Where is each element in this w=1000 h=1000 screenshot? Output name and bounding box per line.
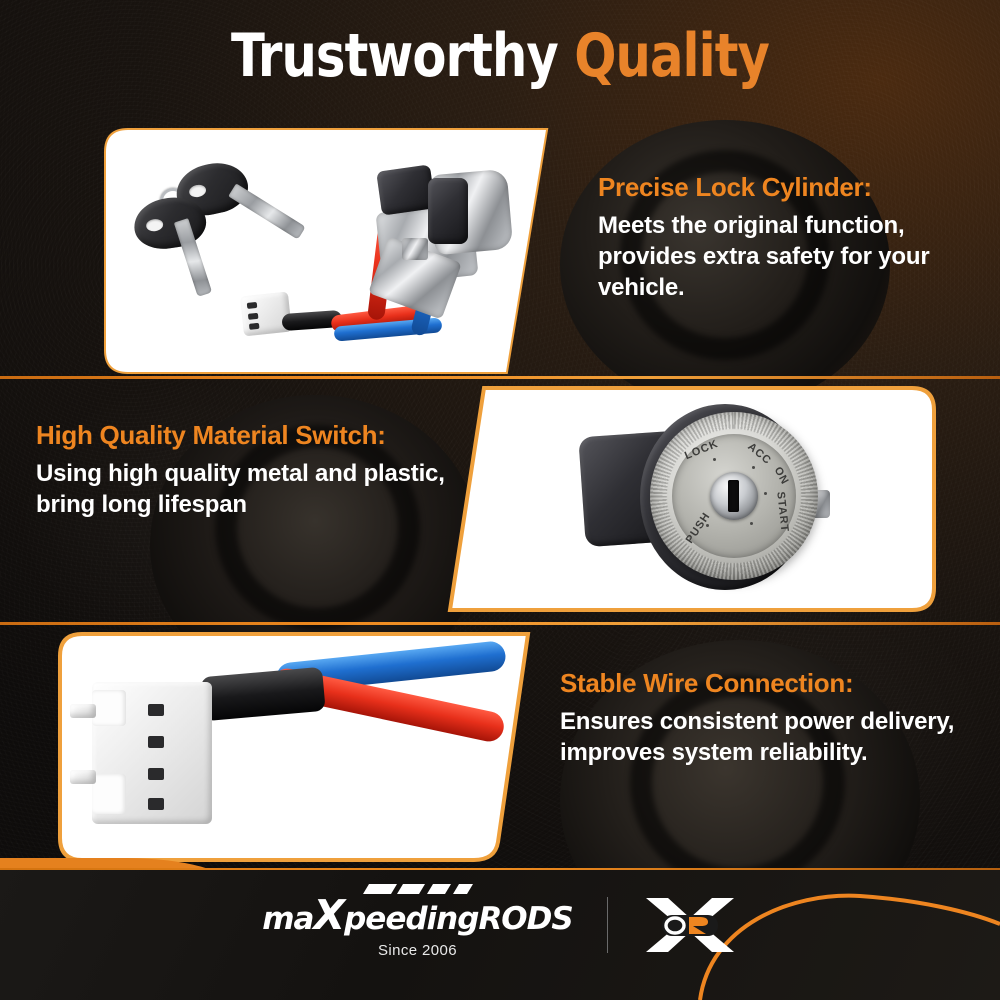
- section-3-body: Ensures consistent power delivery, impro…: [560, 706, 960, 768]
- footer-divider: [0, 868, 1000, 870]
- speed-streaks-icon: [357, 882, 477, 900]
- page-title: Trustworthy Quality: [0, 24, 1000, 88]
- section-1-copy: Precise Lock Cylinder: Meets the origina…: [598, 172, 948, 303]
- section-3-heading: Stable Wire Connection:: [560, 668, 960, 699]
- page-title-part2: Quality: [574, 21, 769, 91]
- lock-cylinder-terminal: [402, 238, 428, 260]
- footer: maXpeedingRODS Since 2006: [0, 868, 1000, 1000]
- connector-latch-lower: [70, 770, 96, 784]
- page-title-part1: Trustworthy: [231, 21, 558, 91]
- infographic-canvas: Trustworthy Quality: [0, 0, 1000, 1000]
- section-divider-1: [0, 376, 1000, 379]
- product-image-lock-cylinder: [76, 126, 576, 376]
- section-2-body: Using high quality metal and plastic, br…: [36, 458, 456, 520]
- section-1-body: Meets the original function, provides ex…: [598, 210, 948, 303]
- section-1-heading: Precise Lock Cylinder:: [598, 172, 948, 203]
- connector-pin-1: [148, 704, 164, 716]
- lock-cylinder-black-housing: [376, 164, 436, 215]
- brand-x: X: [313, 891, 344, 939]
- section-3-copy: Stable Wire Connection: Ensures consiste…: [560, 668, 960, 768]
- maxpeedingrods-logo[interactable]: maXpeedingRODS Since 2006: [262, 891, 572, 959]
- x-badge-icon[interactable]: [642, 896, 738, 954]
- wire-black-sleeve: [200, 667, 325, 721]
- product-image-ignition-switch: LOCK ACC ON START PUSH: [444, 382, 944, 616]
- section-2-image-panel: LOCK ACC ON START PUSH: [444, 382, 944, 616]
- connector-body: [92, 682, 212, 824]
- section-3-image-panel: [30, 628, 550, 866]
- lock-cylinder-face-detail: [428, 178, 468, 244]
- brand-mid: peeding: [344, 901, 478, 937]
- key-blade-1: [228, 183, 305, 239]
- footer-brand-row: maXpeedingRODS Since 2006: [0, 882, 1000, 968]
- section-divider-2: [0, 622, 1000, 625]
- connector-latch-upper: [70, 704, 96, 718]
- connector-pin-2: [148, 736, 164, 748]
- brand-since: Since 2006: [262, 942, 572, 959]
- switch-key-slot: [728, 480, 739, 512]
- brand-post: RODS: [478, 901, 572, 937]
- section-1-image-panel: [76, 126, 576, 376]
- connector-pin-3: [148, 768, 164, 780]
- section-2-copy: High Quality Material Switch: Using high…: [36, 420, 456, 520]
- wire-connector-white: [240, 292, 292, 337]
- footer-divider-vertical: [607, 897, 608, 953]
- brand-pre: ma: [262, 901, 313, 937]
- product-image-wire-connector: [30, 628, 550, 866]
- section-2-heading: High Quality Material Switch:: [36, 420, 456, 451]
- connector-pin-4: [148, 798, 164, 810]
